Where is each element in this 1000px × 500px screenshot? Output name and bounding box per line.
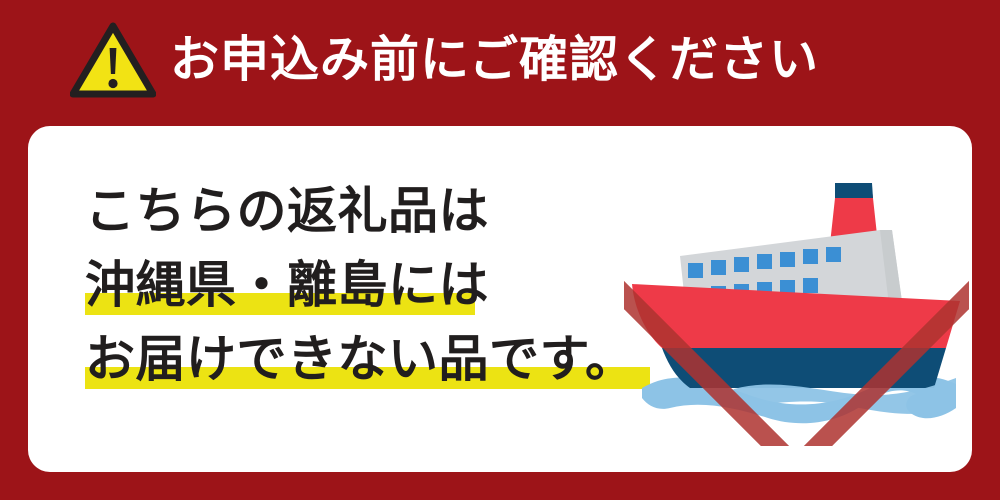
notice-banner: お申込み前にご確認ください こちらの返礼品は 沖縄県・離島には お届けできない品… — [0, 0, 1000, 500]
header: お申込み前にご確認ください — [0, 0, 1000, 118]
notice-card: こちらの返礼品は 沖縄県・離島には お届けできない品です。 — [28, 126, 972, 472]
warning-triangle-icon — [70, 22, 156, 98]
hull-icon — [632, 284, 960, 388]
notice-line: こちらの返礼品は — [85, 174, 625, 248]
notice-line: お届けできない品です。 — [85, 322, 625, 396]
page-title: お申込み前にご確認ください — [170, 35, 819, 84]
notice-line-text: こちらの返礼品は — [85, 182, 489, 240]
notice-text-block: こちらの返礼品は 沖縄県・離島には お届けできない品です。 — [85, 174, 625, 396]
notice-line-text: お届けできない品です。 — [85, 330, 636, 388]
ferry-ship-icon — [632, 183, 960, 423]
notice-line-text: 沖縄県・離島には — [85, 256, 489, 314]
notice-line: 沖縄県・離島には — [85, 248, 625, 322]
ship-prohibited-illustration — [624, 156, 969, 446]
